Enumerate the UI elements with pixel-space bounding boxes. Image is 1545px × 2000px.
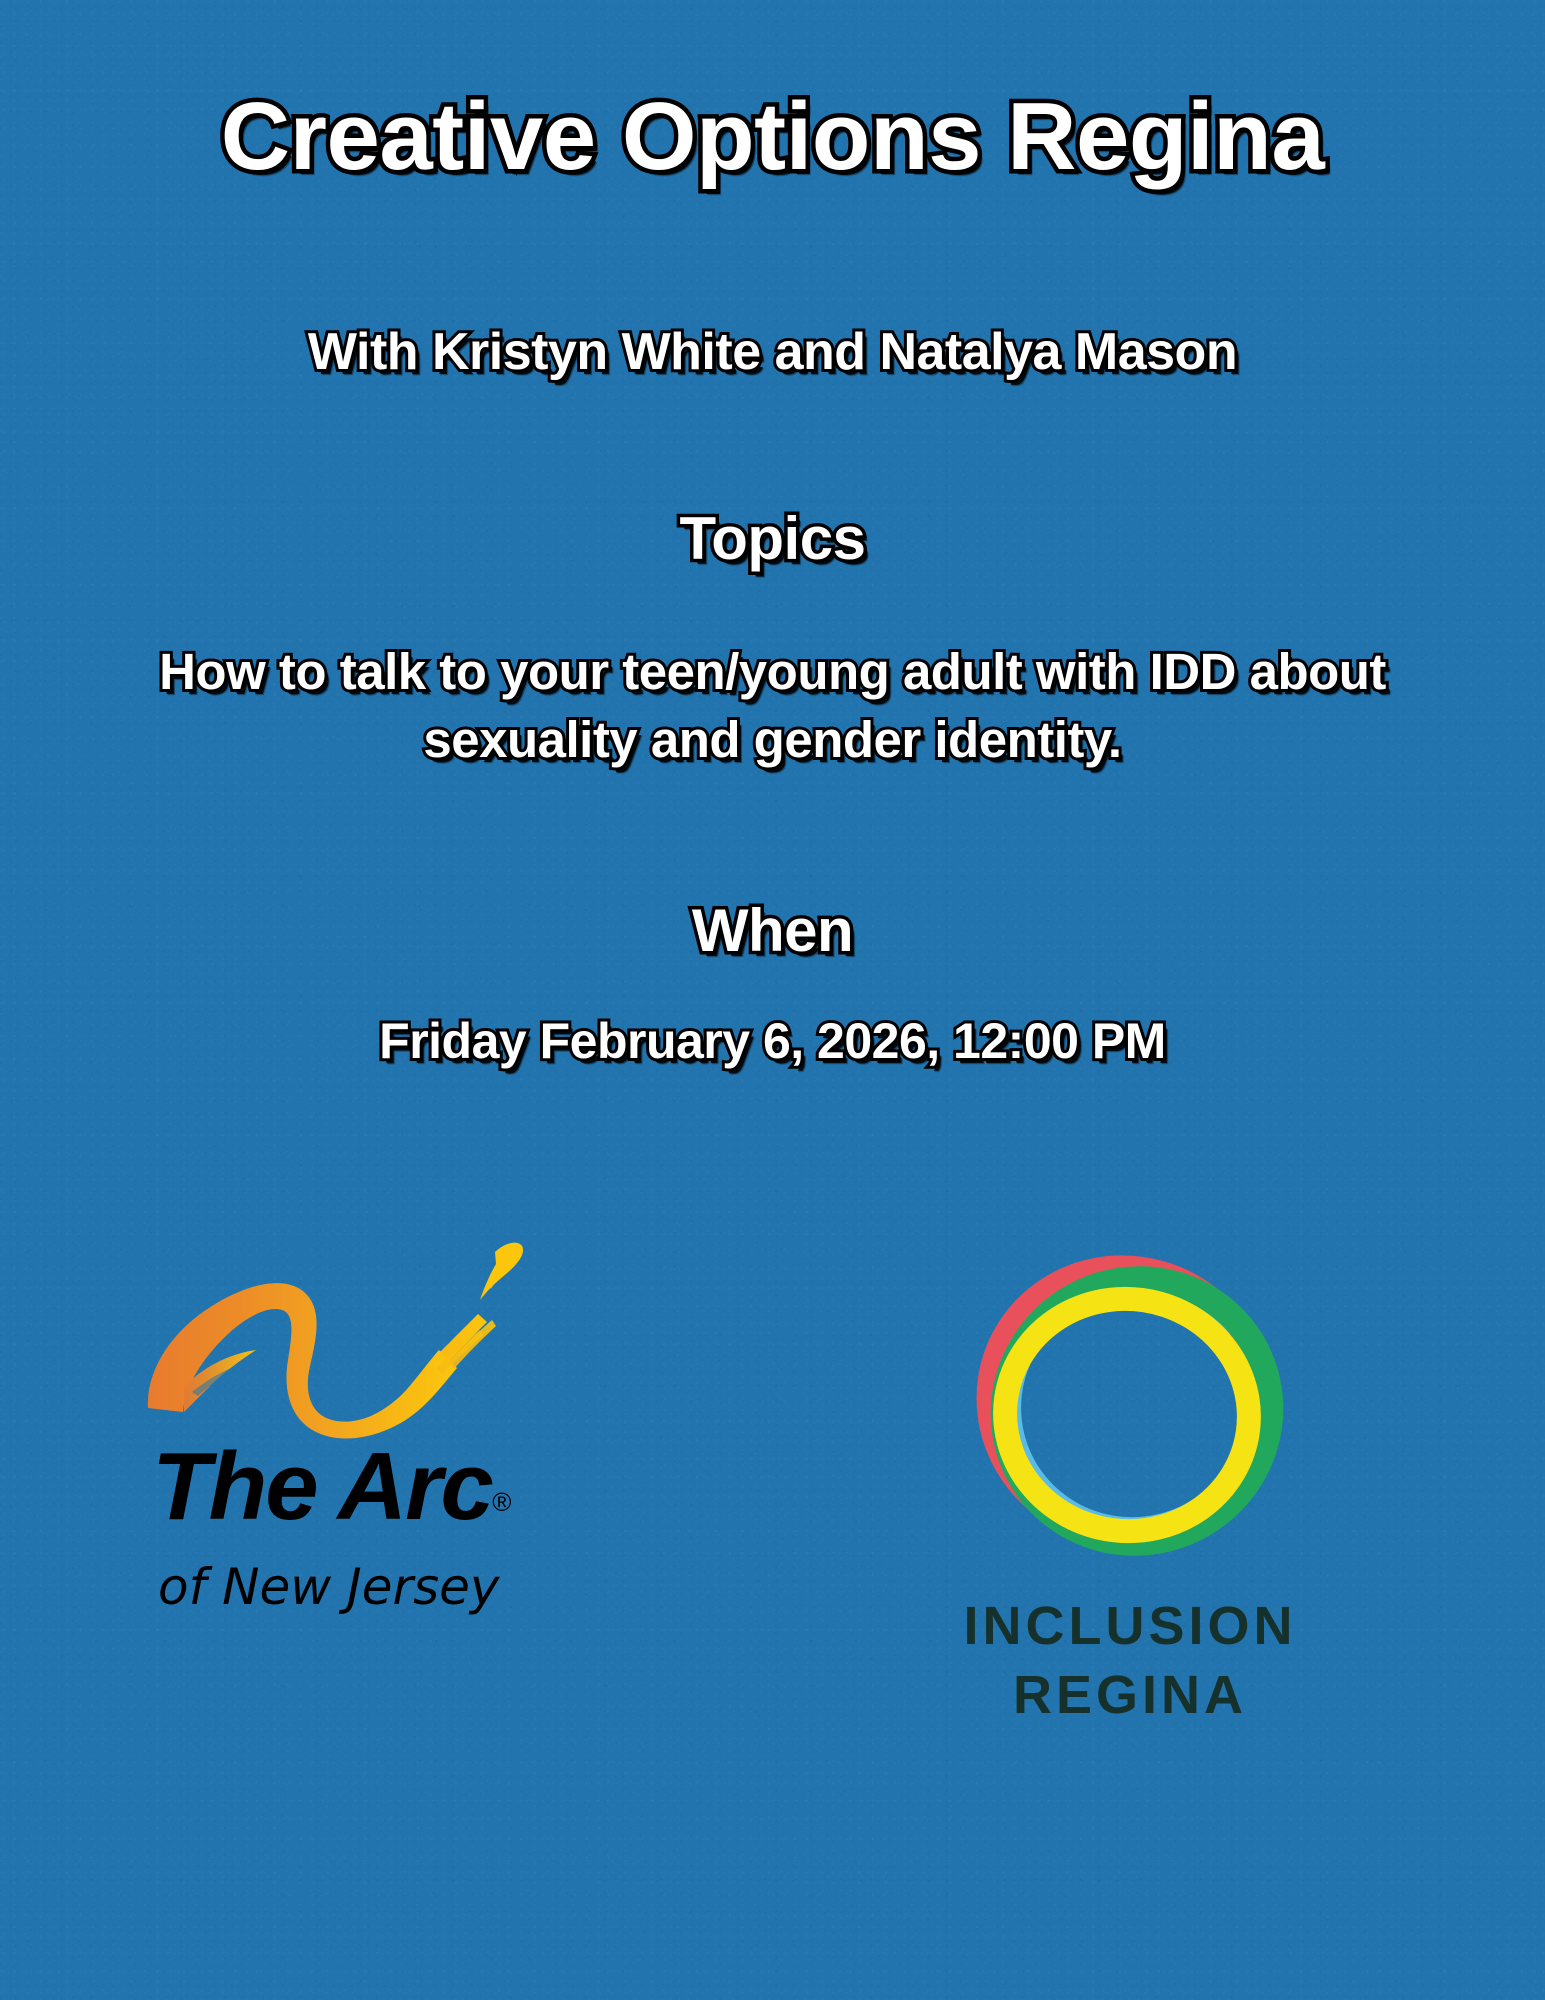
when-heading: When (0, 898, 1545, 964)
inclusion-wordmark-line1: INCLUSION (895, 1592, 1365, 1661)
registered-trademark-icon: ® (492, 1487, 511, 1517)
inclusion-wordmark-line2: REGINA (895, 1661, 1365, 1730)
overlapping-rings-icon (955, 1210, 1305, 1610)
logos-row: The Arc® of New Jersey INCLUSION (0, 1210, 1545, 1770)
arc-subwordmark: of New Jersey (158, 1558, 500, 1616)
topics-body-text: How to talk to your teen/young adult wit… (70, 638, 1475, 774)
page-title: Creative Options Regina (0, 86, 1545, 188)
poster-page: Creative Options Regina With Kristyn Whi… (0, 0, 1545, 2000)
arc-swoosh-icon (140, 1240, 540, 1440)
when-datetime-text: Friday February 6, 2026, 12:00 PM (0, 1014, 1545, 1069)
arc-wordmark: The Arc® (152, 1432, 511, 1542)
arc-wordmark-text: The Arc (152, 1433, 492, 1540)
arc-of-new-jersey-logo: The Arc® of New Jersey (140, 1240, 660, 1680)
presenters-line: With Kristyn White and Natalya Mason (0, 324, 1545, 381)
topics-heading: Topics (0, 506, 1545, 572)
inclusion-regina-logo: INCLUSION REGINA (955, 1210, 1385, 1770)
inclusion-regina-wordmark: INCLUSION REGINA (895, 1592, 1365, 1730)
